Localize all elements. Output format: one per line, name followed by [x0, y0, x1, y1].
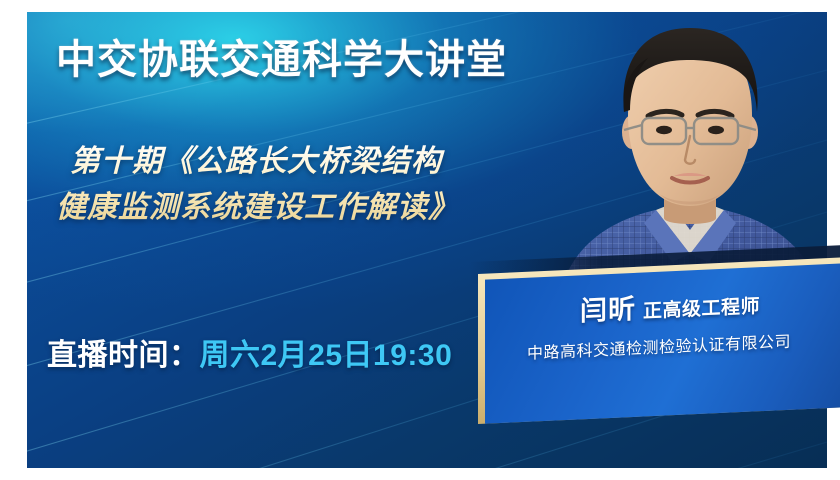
live-time: 直播时间：周六2月25日19:30 — [47, 330, 452, 374]
live-time-value: 周六2月25日19:30 — [200, 339, 453, 372]
page-title: 中交协联交通科学大讲堂 — [56, 27, 507, 85]
poster-root: 中交协联交通科学大讲堂 第十期《公路长大桥梁结构 健康监测系统建设工作解读》 直… — [0, 0, 840, 480]
episode-subtitle: 第十期《公路长大桥梁结构 健康监测系统建设工作解读》 — [56, 139, 526, 231]
speaker-name: 闫昕 — [580, 294, 636, 327]
speaker-panel-skew: 闫昕正高级工程师 中路高科交通检测检验认证有限公司 — [478, 258, 840, 424]
speaker-name-row: 闫昕正高级工程师 — [478, 278, 840, 333]
subtitle-line-1: 第十期《公路长大桥梁结构 — [56, 139, 526, 185]
speaker-organization: 中路高科交通检测检验认证有限公司 — [478, 326, 840, 366]
speaker-info-panel: 闫昕正高级工程师 中路高科交通检测检验认证有限公司 — [478, 274, 840, 424]
speaker-text-block: 闫昕正高级工程师 中路高科交通检测检验认证有限公司 — [478, 258, 840, 424]
subtitle-line-2: 健康监测系统建设工作解读》 — [56, 185, 526, 231]
live-time-label: 直播时间： — [47, 339, 200, 372]
speaker-title: 正高级工程师 — [643, 296, 760, 322]
